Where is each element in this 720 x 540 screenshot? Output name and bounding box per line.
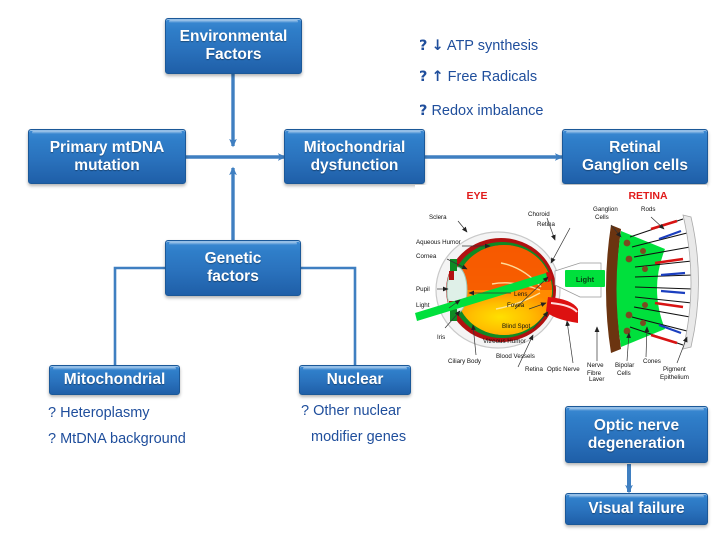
- bullet-glyph: ?: [419, 38, 427, 54]
- label-rods: Rods: [641, 206, 655, 213]
- bullet-glyph: ?: [419, 103, 427, 119]
- connector-genetic-to-nuclear: [294, 268, 355, 367]
- annotation-other-nuclear: ? Other nuclear: [301, 404, 401, 419]
- annotation-atp-synthesis: ? ↓ ATP synthesis: [419, 39, 538, 54]
- annotation-free-radicals: ? ↑ Free Radicals: [419, 70, 537, 85]
- heading-eye: EYE: [466, 190, 487, 202]
- label-retina-bottom: Retina: [525, 366, 543, 373]
- box-mitochondrial-dysfunction[interactable]: Mitochondrial dysfunction: [284, 129, 425, 184]
- box-optic-nerve-line1: Optic nerve: [588, 417, 685, 435]
- box-nuclear[interactable]: Nuclear: [299, 365, 411, 395]
- box-mitochondrial[interactable]: Mitochondrial: [49, 365, 180, 395]
- label-vitreous-humor: Vitreous Humor: [483, 338, 526, 345]
- label-blood-vessels: Blood Vessels: [496, 353, 535, 360]
- bullet-glyph: ?: [419, 69, 427, 85]
- label-retina-top: Retina: [537, 221, 555, 228]
- box-genetic-factors-line1: Genetic: [205, 250, 262, 268]
- label-bipolar-1: Bipolar: [615, 362, 634, 369]
- box-nuclear-label: Nuclear: [327, 371, 384, 389]
- label-choroid: Choroid: [528, 211, 550, 218]
- label-ciliary-body: Ciliary Body: [448, 358, 482, 365]
- box-mitochondrial-label: Mitochondrial: [64, 371, 166, 389]
- annotation-heteroplasmy-text: ? Heteroplasmy: [48, 405, 150, 421]
- box-optic-nerve-degeneration[interactable]: Optic nerve degeneration: [565, 406, 708, 463]
- label-blind-spot: Blind Spot: [502, 323, 530, 330]
- annotation-modifier-genes-text: modifier genes: [311, 429, 406, 445]
- box-retinal-ganglion-cells[interactable]: Retinal Ganglion cells: [562, 129, 708, 184]
- eye-retina-svg: Light: [415, 185, 707, 381]
- box-retinal-ganglion-line1: Retinal: [582, 139, 688, 157]
- heading-retina: RETINA: [628, 190, 668, 202]
- annotation-mtdna-background: ? MtDNA background: [48, 432, 186, 447]
- annotation-mtdna-background-text: ? MtDNA background: [48, 431, 186, 447]
- label-pigment-1: Pigment: [663, 366, 686, 373]
- label-cones: Cones: [643, 358, 661, 365]
- box-retinal-ganglion-line2: Ganglion cells: [582, 157, 688, 175]
- label-light: Light: [416, 302, 430, 309]
- label-nerve-3: Layer: [589, 376, 604, 381]
- label-pupil: Pupil: [416, 286, 430, 293]
- box-environmental-factors-line2: Factors: [180, 46, 288, 64]
- label-cornea: Cornea: [416, 253, 437, 260]
- light-label: Light: [576, 275, 595, 284]
- label-optic-nerve: Optic Nerve: [547, 366, 580, 373]
- box-mitochondrial-dysfunction-line1: Mitochondrial: [304, 139, 406, 157]
- label-bipolar-2: Cells: [617, 370, 631, 377]
- box-genetic-factors[interactable]: Genetic factors: [165, 240, 301, 296]
- annotation-other-nuclear-text: ? Other nuclear: [301, 403, 401, 419]
- connector-genetic-to-mitochondrial: [115, 268, 172, 367]
- box-environmental-factors-line1: Environmental: [180, 28, 288, 46]
- box-environmental-factors[interactable]: Environmental Factors: [165, 18, 302, 74]
- label-aqueous-humor: Aqueous Humor: [416, 239, 461, 246]
- annotation-redox-imbalance-text: Redox imbalance: [431, 103, 543, 119]
- up-arrow-icon: ↑: [431, 69, 443, 85]
- annotation-modifier-genes: modifier genes: [311, 430, 406, 445]
- label-fovea: Fovea: [507, 302, 525, 309]
- down-arrow-icon: ↓: [431, 38, 443, 54]
- box-visual-failure-label: Visual failure: [588, 500, 684, 518]
- annotation-atp-synthesis-text: ATP synthesis: [447, 38, 538, 54]
- label-nerve-1: Nerve: [587, 362, 604, 369]
- label-ganglion-cells-2: Cells: [595, 214, 609, 221]
- label-sclera: Sclera: [429, 214, 447, 221]
- eye-retina-illustration: Light: [415, 185, 707, 381]
- label-lens: Lens: [514, 291, 527, 298]
- label-iris: Iris: [437, 334, 445, 341]
- label-pigment-2: Epithelium: [660, 374, 689, 381]
- annotation-redox-imbalance: ? Redox imbalance: [419, 104, 544, 119]
- box-mitochondrial-dysfunction-line2: dysfunction: [304, 157, 406, 175]
- box-primary-mtdna-line2: mutation: [50, 157, 165, 175]
- diagram-canvas: Environmental Factors Primary mtDNA muta…: [0, 0, 720, 540]
- annotation-heteroplasmy: ? Heteroplasmy: [48, 406, 150, 421]
- box-optic-nerve-line2: degeneration: [588, 435, 685, 453]
- box-genetic-factors-line2: factors: [205, 268, 262, 286]
- box-primary-mtdna-mutation[interactable]: Primary mtDNA mutation: [28, 129, 186, 184]
- box-primary-mtdna-line1: Primary mtDNA: [50, 139, 165, 157]
- annotation-free-radicals-text: Free Radicals: [448, 69, 537, 85]
- box-visual-failure[interactable]: Visual failure: [565, 493, 708, 525]
- label-ganglion-cells-1: Ganglion: [593, 206, 618, 213]
